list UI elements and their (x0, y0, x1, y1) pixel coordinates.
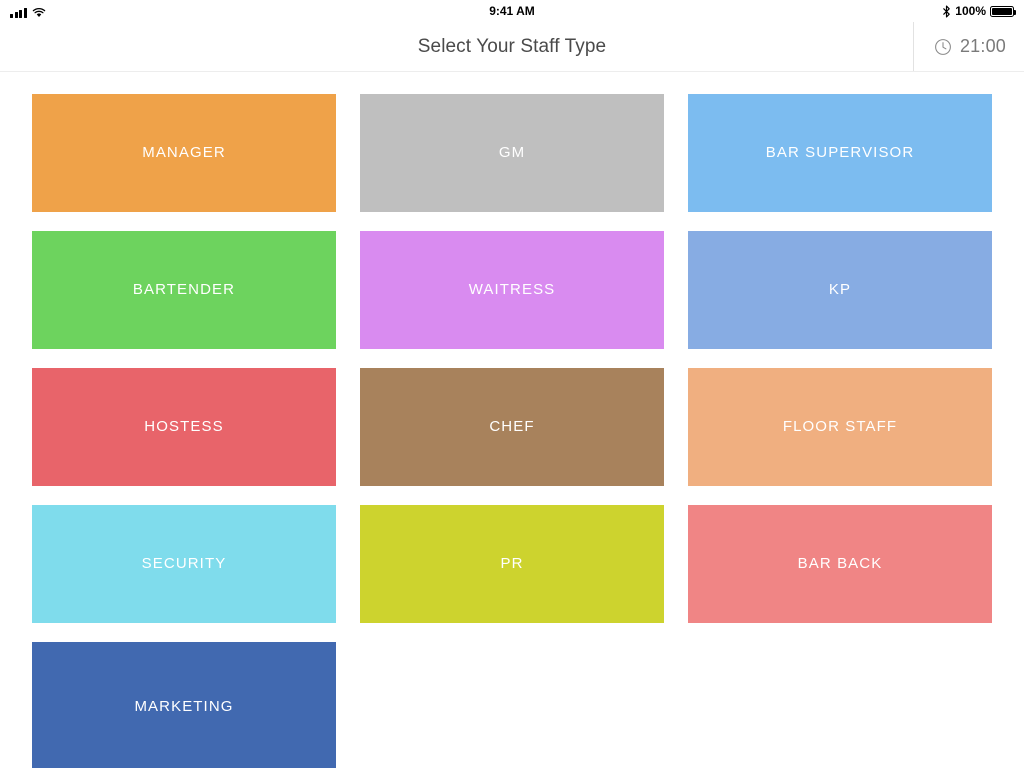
staff-tile-chef[interactable]: CHEF (360, 368, 664, 486)
staff-tile-label: KP (829, 281, 851, 298)
staff-tile-kp[interactable]: KP (688, 231, 992, 349)
wifi-icon (32, 7, 46, 18)
staff-tile-waitress[interactable]: WAITRESS (360, 231, 664, 349)
staff-tile-floor-staff[interactable]: FLOOR STAFF (688, 368, 992, 486)
page-header: Select Your Staff Type 21:00 (0, 22, 1024, 72)
signal-bars-icon (10, 7, 27, 18)
staff-tile-manager[interactable]: MANAGER (32, 94, 336, 212)
clock-time-label: 21:00 (960, 36, 1006, 57)
staff-tile-label: HOSTESS (144, 418, 223, 435)
status-bar-time: 9:41 AM (0, 0, 1024, 22)
staff-tile-hostess[interactable]: HOSTESS (32, 368, 336, 486)
shift-clock[interactable]: 21:00 (913, 22, 1024, 71)
staff-tile-pr[interactable]: PR (360, 505, 664, 623)
staff-tile-label: PR (500, 555, 523, 572)
status-bar-time-label: 9:41 AM (489, 4, 535, 18)
status-bar: 9:41 AM 100% (0, 0, 1024, 22)
staff-tile-label: SECURITY (142, 555, 227, 572)
status-bar-right: 100% (942, 4, 1014, 18)
staff-tile-label: BAR BACK (798, 555, 883, 572)
staff-tile-label: MANAGER (142, 144, 226, 161)
staff-tile-label: MARKETING (134, 698, 233, 715)
staff-tile-label: CHEF (489, 418, 534, 435)
staff-type-grid: MANAGER GM BAR SUPERVISOR BARTENDER WAIT… (0, 72, 1024, 768)
page-title: Select Your Staff Type (418, 36, 606, 58)
staff-tile-label: WAITRESS (469, 281, 556, 298)
staff-tile-label: BARTENDER (133, 281, 235, 298)
staff-tile-marketing[interactable]: MARKETING (32, 642, 336, 768)
staff-tile-bartender[interactable]: BARTENDER (32, 231, 336, 349)
status-bar-left (10, 0, 46, 22)
battery-icon (990, 6, 1014, 17)
staff-tile-bar-supervisor[interactable]: BAR SUPERVISOR (688, 94, 992, 212)
staff-tile-gm[interactable]: GM (360, 94, 664, 212)
staff-tile-bar-back[interactable]: BAR BACK (688, 505, 992, 623)
bluetooth-icon (942, 5, 951, 18)
staff-tile-label: GM (499, 144, 525, 161)
staff-tile-security[interactable]: SECURITY (32, 505, 336, 623)
staff-tile-label: FLOOR STAFF (783, 418, 897, 435)
staff-tile-label: BAR SUPERVISOR (766, 144, 915, 161)
battery-percent-label: 100% (955, 4, 986, 18)
clock-icon (934, 38, 952, 56)
